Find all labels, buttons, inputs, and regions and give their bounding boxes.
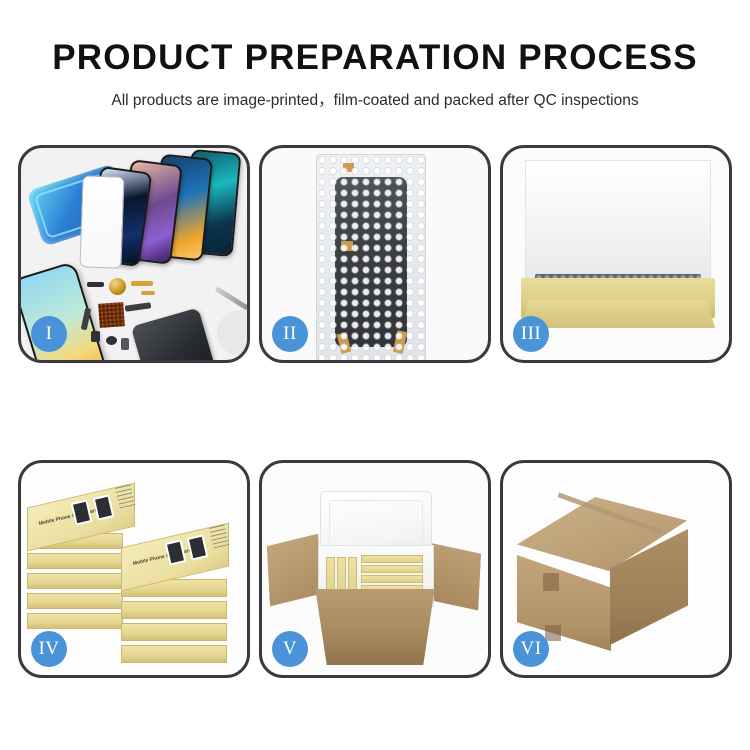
- inner-box: [361, 575, 423, 583]
- tweezers-graphic: [215, 286, 247, 310]
- step-badge-3: III: [513, 316, 549, 352]
- process-step-2: II: [259, 145, 491, 363]
- box-tray-front-graphic: [521, 300, 715, 328]
- bubble-texture: [317, 155, 425, 360]
- bubble-wrap-bag-graphic: [316, 154, 426, 360]
- carton-handle-tab: [545, 625, 561, 641]
- step-badge-4: IV: [31, 631, 67, 667]
- stacked-box: [27, 573, 123, 589]
- stacked-box: [121, 623, 227, 641]
- stacked-box: [27, 593, 123, 609]
- page-title: PRODUCT PREPARATION PROCESS: [0, 38, 750, 78]
- carton-handle-tab: [543, 573, 559, 591]
- process-step-grid: I II: [18, 145, 732, 678]
- stacked-box: [27, 553, 123, 569]
- flex-cable-graphic: [141, 291, 155, 295]
- header: PRODUCT PREPARATION PROCESS All products…: [0, 0, 750, 110]
- stacked-box: [27, 613, 123, 629]
- flex-cable-graphic: [131, 281, 153, 286]
- box-lid-graphic: [525, 160, 711, 282]
- inner-box: [361, 565, 423, 573]
- chip-part-graphic: [121, 338, 129, 350]
- mesh-part-graphic: [98, 302, 125, 328]
- process-step-3: III: [500, 145, 732, 363]
- step-badge-1: I: [31, 316, 67, 352]
- tempered-glass-graphic: [79, 175, 124, 268]
- process-step-5: V: [259, 460, 491, 678]
- step-badge-5: V: [272, 631, 308, 667]
- flex-cable-graphic: [125, 302, 152, 312]
- coil-part-graphic: [109, 278, 126, 295]
- product-preparation-infographic: PRODUCT PREPARATION PROCESS All products…: [0, 0, 750, 750]
- process-step-6: VI: [500, 460, 732, 678]
- process-step-1: I: [18, 145, 250, 363]
- chip-part-graphic: [87, 282, 104, 287]
- inner-box: [361, 555, 423, 563]
- process-step-4: Mobile Phone Spare Parts Mobile Phone Sp…: [18, 460, 250, 678]
- page-subtitle: All products are image-printed，film-coat…: [0, 88, 750, 110]
- stacked-box: [121, 601, 227, 619]
- chip-part-graphic: [106, 336, 117, 345]
- carton-flap-left: [266, 534, 322, 607]
- chip-part-graphic: [91, 331, 100, 342]
- step-badge-6: VI: [513, 631, 549, 667]
- phone-backplate-graphic: [131, 308, 215, 360]
- stacked-box: [121, 645, 227, 663]
- step-badge-2: II: [272, 316, 308, 352]
- carton-body-graphic: [304, 589, 446, 665]
- hand-graphic: [217, 310, 247, 356]
